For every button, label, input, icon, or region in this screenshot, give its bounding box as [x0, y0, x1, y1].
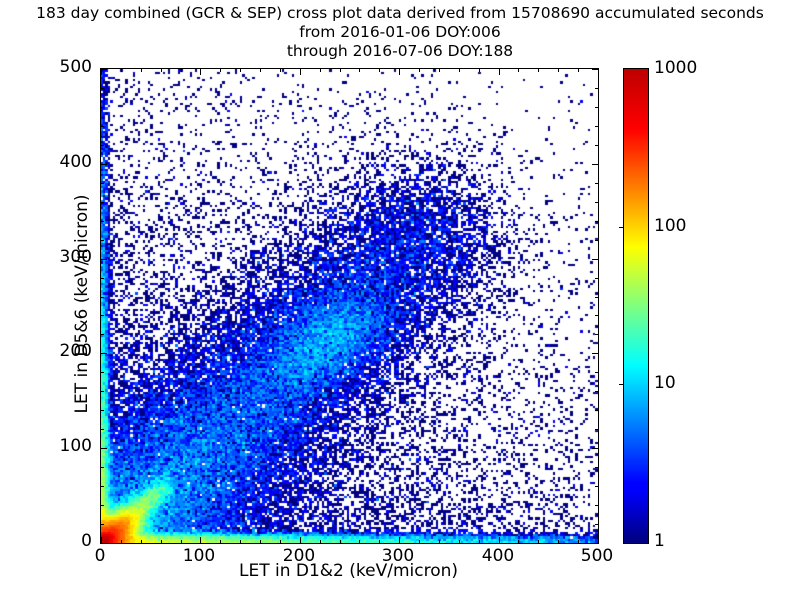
y-axis-tick — [101, 259, 107, 260]
y-axis-tick — [101, 69, 107, 70]
x-axis-tick-top — [399, 69, 400, 75]
y-axis-minor-tick-right — [595, 145, 598, 146]
x-axis-minor-tick-top — [280, 69, 281, 72]
y-axis-tick — [101, 353, 107, 354]
colorbar-tick-label: 1000 — [654, 58, 697, 78]
x-axis-minor-tick — [340, 540, 341, 543]
y-axis-minor-tick-right — [595, 315, 598, 316]
x-axis-minor-tick — [578, 540, 579, 543]
x-axis-minor-tick — [280, 540, 281, 543]
y-axis-tick-label: 100 — [4, 436, 92, 456]
y-axis-minor-tick-right — [595, 391, 598, 392]
y-axis-minor-tick — [101, 126, 104, 127]
y-axis-minor-tick-right — [595, 372, 598, 373]
y-axis-tick-right — [592, 69, 598, 70]
y-axis-minor-tick-right — [595, 410, 598, 411]
x-axis-minor-tick-top — [220, 69, 221, 72]
x-axis-minor-tick-top — [459, 69, 460, 72]
x-axis-tick — [200, 537, 201, 543]
y-axis-minor-tick — [101, 429, 104, 430]
y-axis-minor-tick — [101, 88, 104, 89]
x-axis-minor-tick — [121, 540, 122, 543]
y-axis-tick-label: 400 — [4, 152, 92, 172]
x-axis-minor-tick-top — [479, 69, 480, 72]
y-axis-tick-label: 200 — [4, 341, 92, 361]
y-axis-tick-right — [592, 543, 598, 544]
x-axis-minor-tick — [518, 540, 519, 543]
x-axis-minor-tick-top — [260, 69, 261, 72]
y-axis-minor-tick — [101, 524, 104, 525]
x-axis-minor-tick-top — [240, 69, 241, 72]
y-axis-minor-tick — [101, 145, 104, 146]
x-axis-tick-label: 500 — [557, 546, 637, 566]
x-axis-minor-tick — [320, 540, 321, 543]
y-axis-minor-tick-right — [595, 297, 598, 298]
y-axis-minor-tick — [101, 391, 104, 392]
title-line-2: from 2016-01-06 DOY:006 — [0, 23, 800, 42]
x-axis-tick-top — [200, 69, 201, 75]
x-axis-tick-top — [598, 69, 599, 75]
y-axis-minor-tick — [101, 221, 104, 222]
x-axis-minor-tick — [141, 540, 142, 543]
y-axis-tick — [101, 164, 107, 165]
y-axis-minor-tick-right — [595, 429, 598, 430]
x-axis-minor-tick-top — [181, 69, 182, 72]
x-axis-minor-tick-top — [340, 69, 341, 72]
y-axis-minor-tick — [101, 486, 104, 487]
y-axis-minor-tick — [101, 372, 104, 373]
x-axis-tick — [399, 537, 400, 543]
y-axis-minor-tick-right — [595, 107, 598, 108]
colorbar-tick-label: 1 — [654, 531, 665, 551]
x-axis-minor-tick — [419, 540, 420, 543]
x-axis-minor-tick — [181, 540, 182, 543]
y-axis-minor-tick — [101, 467, 104, 468]
y-axis-minor-tick-right — [595, 126, 598, 127]
x-axis-minor-tick-top — [141, 69, 142, 72]
x-axis-minor-tick — [240, 540, 241, 543]
x-axis-minor-tick-top — [538, 69, 539, 72]
x-axis-minor-tick-top — [161, 69, 162, 72]
x-axis-tick-label: 100 — [159, 546, 239, 566]
x-axis-minor-tick — [538, 540, 539, 543]
x-axis-minor-tick-top — [419, 69, 420, 72]
y-axis-tick-label: 0 — [4, 531, 92, 551]
figure-title: 183 day combined (GCR & SEP) cross plot … — [0, 4, 800, 61]
y-axis-minor-tick — [101, 334, 104, 335]
y-axis-tick-label: 500 — [4, 57, 92, 77]
x-axis-minor-tick-top — [439, 69, 440, 72]
y-axis-tick-right — [592, 448, 598, 449]
x-axis-minor-tick — [479, 540, 480, 543]
y-axis-minor-tick — [101, 410, 104, 411]
colorbar-tick-label: 10 — [654, 373, 676, 393]
x-axis-tick — [499, 537, 500, 543]
x-axis-minor-tick — [260, 540, 261, 543]
title-line-1: 183 day combined (GCR & SEP) cross plot … — [0, 4, 800, 23]
y-axis-tick — [101, 448, 107, 449]
x-axis-minor-tick — [220, 540, 221, 543]
colorbar-tick — [619, 384, 624, 385]
colorbar: 1101001000 — [623, 68, 647, 542]
figure-canvas: 183 day combined (GCR & SEP) cross plot … — [0, 0, 800, 600]
y-axis-minor-tick-right — [595, 183, 598, 184]
y-axis-minor-tick — [101, 107, 104, 108]
x-axis-minor-tick-top — [379, 69, 380, 72]
x-axis-minor-tick-top — [578, 69, 579, 72]
x-axis-minor-tick-top — [320, 69, 321, 72]
y-axis-minor-tick-right — [595, 467, 598, 468]
y-axis-minor-tick-right — [595, 202, 598, 203]
scatter-density-plot — [101, 69, 598, 543]
colorbar-tick — [619, 227, 624, 228]
y-axis-minor-tick — [101, 278, 104, 279]
y-axis-minor-tick — [101, 505, 104, 506]
x-axis-tick-top — [499, 69, 500, 75]
x-axis-tick-label: 200 — [259, 546, 339, 566]
y-axis-minor-tick-right — [595, 505, 598, 506]
x-axis-minor-tick-top — [558, 69, 559, 72]
y-axis-tick-right — [592, 353, 598, 354]
y-axis-minor-tick-right — [595, 88, 598, 89]
x-axis-minor-tick — [558, 540, 559, 543]
plot-axes — [100, 68, 599, 544]
y-axis-title: LET in D5&6 (keV/micron) — [72, 67, 92, 541]
x-axis-tick — [598, 537, 599, 543]
x-axis-tick — [300, 537, 301, 543]
x-axis-minor-tick — [379, 540, 380, 543]
y-axis-tick — [101, 543, 107, 544]
x-axis-minor-tick-top — [121, 69, 122, 72]
y-axis-tick-label: 300 — [4, 247, 92, 267]
y-axis-minor-tick-right — [595, 524, 598, 525]
y-axis-minor-tick — [101, 315, 104, 316]
y-axis-minor-tick — [101, 297, 104, 298]
x-axis-minor-tick-top — [359, 69, 360, 72]
colorbar-gradient — [623, 68, 649, 544]
y-axis-minor-tick-right — [595, 334, 598, 335]
x-axis-minor-tick — [439, 540, 440, 543]
y-axis-minor-tick — [101, 240, 104, 241]
y-axis-minor-tick — [101, 183, 104, 184]
y-axis-minor-tick-right — [595, 486, 598, 487]
y-axis-tick-right — [592, 164, 598, 165]
x-axis-minor-tick — [161, 540, 162, 543]
x-axis-minor-tick-top — [518, 69, 519, 72]
x-axis-minor-tick — [459, 540, 460, 543]
y-axis-minor-tick — [101, 202, 104, 203]
y-axis-minor-tick-right — [595, 278, 598, 279]
x-axis-tick-top — [300, 69, 301, 75]
colorbar-tick-label: 100 — [654, 216, 686, 236]
y-axis-minor-tick-right — [595, 240, 598, 241]
x-axis-tick-label: 300 — [358, 546, 438, 566]
x-axis-tick-label: 400 — [458, 546, 538, 566]
y-axis-minor-tick-right — [595, 221, 598, 222]
y-axis-tick-right — [592, 259, 598, 260]
x-axis-minor-tick — [359, 540, 360, 543]
